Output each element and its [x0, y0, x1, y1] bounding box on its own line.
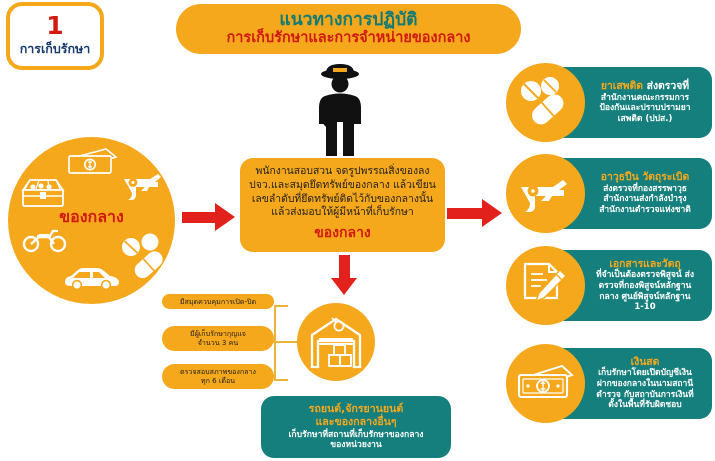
category-heading-weapons: อาวุธปืน วัตถุระเบิด: [601, 171, 690, 183]
page-subtitle: การเก็บรักษาและการจำหน่ายของกลาง: [227, 31, 471, 47]
bottom-storage-body: เก็บรักษาที่สถานที่เก็บรักษาของกลาง ของห…: [288, 430, 423, 452]
bottom-storage-heading: รถยนต์,จักรยานยนต์ และของกลางอื่นๆ: [309, 403, 404, 429]
car-icon: [63, 263, 121, 291]
bracket-arm-bottom: [274, 379, 288, 381]
title-banner: แนวทางการปฏิบัติ การเก็บรักษาและการจำหน่…: [176, 4, 521, 54]
warehouse-circle: [297, 303, 375, 381]
category-icon-circle-documents: [506, 246, 585, 325]
cash-icon: [516, 364, 576, 404]
category-heading-cash: เงินสด: [631, 356, 660, 368]
center-line-2: ปจว.และสมุดยึดทรัพย์ของกลาง แล้วเขียน: [249, 179, 436, 193]
category-body-narcotics: สำนักงานคณะกรรมการ ป้องกันและปราบปรามยา …: [599, 93, 690, 125]
pill-inspection: ตรวจสอบสภาพของกลาง ทุก 6 เดือน: [162, 364, 274, 389]
pill-keyholders-label: มีผู้เก็บรักษากุญแจ จำนวน 3 คน: [190, 329, 246, 348]
step-label: การเก็บรักษา: [20, 39, 91, 59]
category-body-documents: ที่จำเป็นต้องตรวจพิสูจน์ ส่ง ตรวจที่กองพ…: [596, 270, 694, 313]
category-heading-documents: เอกสารและวัตถุ: [609, 258, 680, 270]
center-line-3: เลขลำดับที่ยึดทรัพย์ติดไว้กับของกลางนั้น: [252, 193, 433, 207]
revolver-icon: [517, 176, 575, 216]
document-pen-icon: [522, 262, 570, 310]
category-body-weapons: ส่งตรวจที่กองสรรพาวุธ สำนักงานส่งกำลังบำ…: [599, 184, 691, 216]
category-card-weapons: อาวุธปืน วัตถุระเบิด ส่งตรวจที่กองสรรพาว…: [506, 154, 712, 233]
page-title: แนวทางการปฏิบัติ: [279, 11, 417, 29]
category-heading-text: ยาเสพติด: [601, 80, 643, 92]
pill-keyholders: มีผู้เก็บรักษากุญแจ จำนวน 3 คน: [162, 326, 274, 351]
arrow-center-to-categories: [447, 199, 502, 227]
center-line-1: พนักงานสอบสวน จดรูปพรรณสิ่งของลง: [256, 165, 430, 179]
police-officer-icon: [300, 62, 380, 162]
warehouse-icon: [309, 315, 363, 369]
revolver-icon: [120, 170, 164, 204]
evidence-circle: ของกลาง: [8, 137, 175, 304]
step-badge: 1 การเก็บรักษา: [6, 2, 104, 70]
category-body-cash: เก็บรักษาโดยเปิดบัญชีเงิน ฝากของกลางในนา…: [596, 368, 693, 411]
bracket-arm-top: [274, 305, 288, 307]
arrow-circle-to-center: [182, 203, 235, 231]
pill-logbook-label: มีสมุดควบคุมการเปิด-ปิด: [180, 297, 256, 306]
arrow-center-to-warehouse: [331, 255, 357, 295]
step-number: 1: [46, 13, 63, 38]
evidence-circle-label: ของกลาง: [8, 205, 175, 230]
category-heading-rest: ส่งตรวจที่: [643, 80, 689, 92]
bracket-vertical: [274, 305, 276, 381]
center-instruction-box: พนักงานสอบสวน จดรูปพรรณสิ่งของลง ปจว.และ…: [240, 158, 445, 252]
category-icon-circle-cash: [506, 344, 585, 423]
center-emphasis: ของกลาง: [314, 222, 371, 244]
category-heading-narcotics: ยาเสพติด ส่งตรวจที่: [601, 80, 689, 92]
category-card-documents: เอกสารและวัตถุ ที่จำเป็นต้องตรวจพิสูจน์ …: [506, 246, 712, 325]
pill-inspection-label: ตรวจสอบสภาพของกลาง ทุก 6 เดือน: [180, 367, 256, 386]
bottom-storage-box: รถยนต์,จักรยานยนต์ และของกลางอื่นๆ เก็บร…: [261, 396, 451, 458]
pill-logbook: มีสมุดควบคุมการเปิด-ปิด: [162, 294, 274, 309]
category-icon-circle-narcotics: [506, 63, 585, 142]
pills-icon: [120, 233, 166, 281]
category-icon-circle-weapons: [506, 154, 585, 233]
category-card-cash: เงินสด เก็บรักษาโดยเปิดบัญชีเงิน ฝากของก…: [506, 344, 712, 423]
center-line-4: แล้วส่งมอบให้ผู้มีหน้าที่เก็บรักษา: [271, 206, 414, 220]
banknotes-icon: [66, 146, 118, 176]
infographic-canvas: 1 การเก็บรักษา แนวทางการปฏิบัติ การเก็บร…: [0, 0, 715, 461]
category-card-narcotics: ยาเสพติด ส่งตรวจที่ สำนักงานคณะกรรมการ ป…: [506, 63, 712, 142]
pills-capsule-icon: [519, 78, 571, 128]
